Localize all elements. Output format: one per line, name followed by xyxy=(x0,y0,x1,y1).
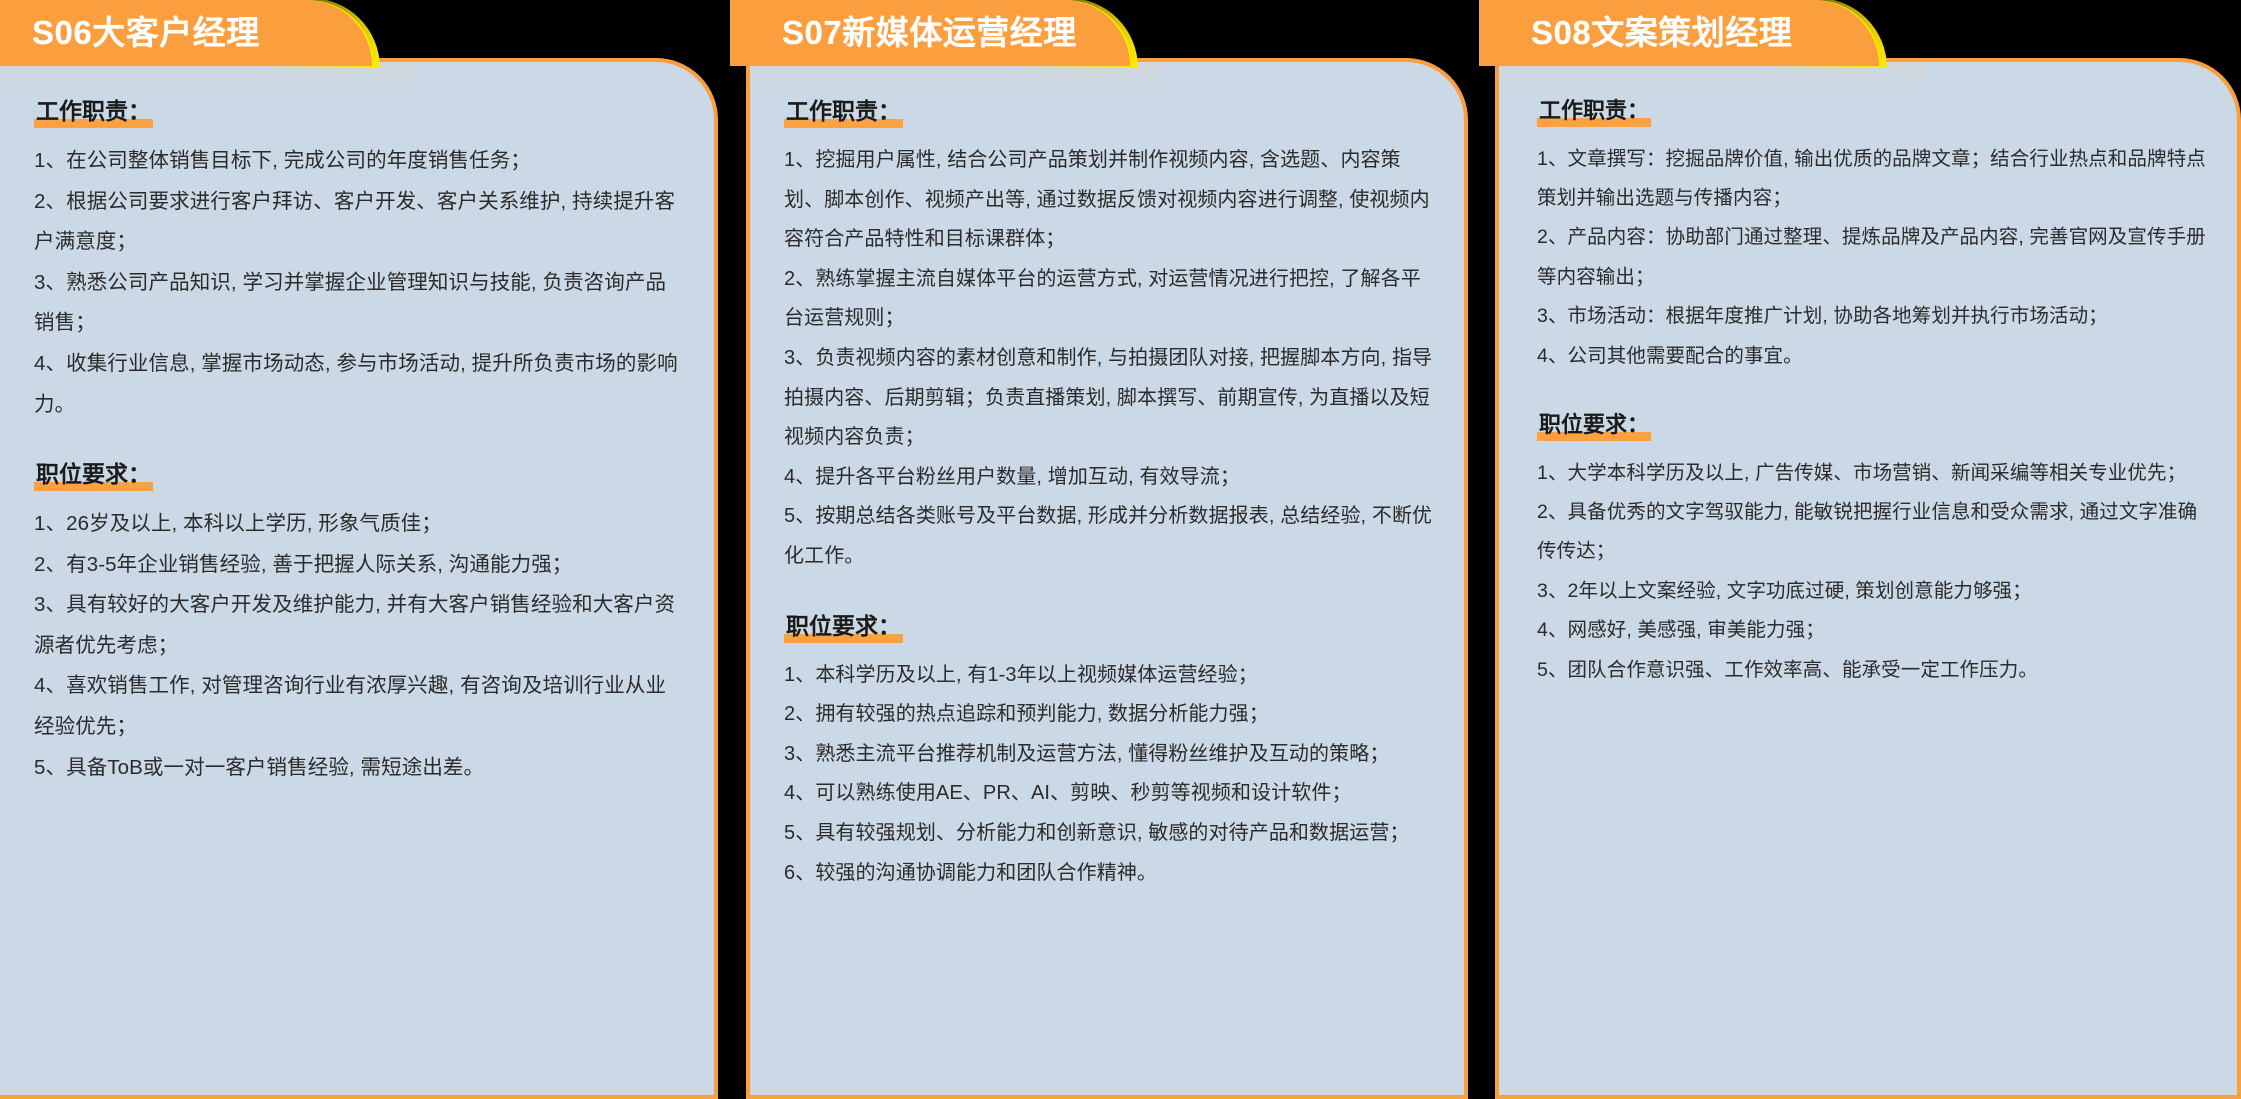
job-title-s06: S06大客户经理 xyxy=(0,0,260,66)
section-responsibilities-s06: 工作职责： 1、在公司整体销售目标下, 完成公司的年度销售任务； 2、根据公司要… xyxy=(28,96,686,425)
section-responsibilities-s07: 工作职责： 1、挖掘用户属性, 结合公司产品策划并制作视频内容, 含选题、内容策… xyxy=(778,96,1436,577)
job-card-body-s07: 工作职责： 1、挖掘用户属性, 结合公司产品策划并制作视频内容, 含选题、内容策… xyxy=(746,58,1468,1099)
job-card-content-s08: 工作职责： 1、文章撰写：挖掘品牌价值, 输出优质的品牌文章；结合行业热点和品牌… xyxy=(1499,62,2237,718)
list-item: 3、熟悉主流平台推荐机制及运营方法, 懂得粉丝维护及互动的策略； xyxy=(784,735,1436,775)
list-item: 4、喜欢销售工作, 对管理咨询行业有浓厚兴趣, 有咨询及培训行业从业经验优先； xyxy=(34,666,686,747)
job-card-body-s06: 工作职责： 1、在公司整体销售目标下, 完成公司的年度销售任务； 2、根据公司要… xyxy=(0,58,718,1099)
list-item: 1、本科学历及以上, 有1-3年以上视频媒体运营经验； xyxy=(784,656,1436,696)
job-title-banner-s06: S06大客户经理 xyxy=(0,0,260,66)
list-item: 4、网感好, 美感强, 审美能力强； xyxy=(1537,611,2213,650)
list-item: 4、提升各平台粉丝用户数量, 增加互动, 有效导流； xyxy=(784,458,1436,498)
list-item: 4、可以熟练使用AE、PR、AI、剪映、秒剪等视频和设计软件； xyxy=(784,774,1436,814)
list-item: 2、有3-5年企业销售经验, 善于把握人际关系, 沟通能力强； xyxy=(34,545,686,586)
job-title-s07: S07新媒体运营经理 xyxy=(750,0,1077,66)
section-heading-responsibilities-s08: 工作职责： xyxy=(1537,96,1653,128)
job-title-banner-s07: S07新媒体运营经理 xyxy=(750,0,1077,66)
section-requirements-s08: 职位要求： 1、大学本科学历及以上, 广告传媒、市场营销、新闻采编等相关专业优先… xyxy=(1531,410,2213,690)
list-item: 3、市场活动：根据年度推广计划, 协助各地筹划并执行市场活动； xyxy=(1537,297,2213,336)
list-item: 5、按期总结各类账号及平台数据, 形成并分析数据报表, 总结经验, 不断优化工作… xyxy=(784,497,1436,576)
section-heading-responsibilities-s07: 工作职责： xyxy=(784,96,905,129)
list-item: 3、熟悉公司产品知识, 学习并掌握企业管理知识与技能, 负责咨询产品销售； xyxy=(34,263,686,344)
section-responsibilities-s08: 工作职责： 1、文章撰写：挖掘品牌价值, 输出优质的品牌文章；结合行业热点和品牌… xyxy=(1531,96,2213,376)
list-item: 4、收集行业信息, 掌握市场动态, 参与市场活动, 提升所负责市场的影响力。 xyxy=(34,344,686,425)
list-item: 3、2年以上文案经验, 文字功底过硬, 策划创意能力够强； xyxy=(1537,572,2213,611)
job-card-content-s06: 工作职责： 1、在公司整体销售目标下, 完成公司的年度销售任务； 2、根据公司要… xyxy=(0,62,714,816)
job-title-s08: S08文案策划经理 xyxy=(1499,0,1792,66)
list-item: 5、具备ToB或一对一客户销售经验, 需短途出差。 xyxy=(34,748,686,789)
list-item: 2、根据公司要求进行客户拜访、客户开发、客户关系维护, 持续提升客户满意度； xyxy=(34,182,686,263)
job-title-banner-s08: S08文案策划经理 xyxy=(1499,0,1792,66)
list-item: 2、拥有较强的热点追踪和预判能力, 数据分析能力强； xyxy=(784,695,1436,735)
list-item: 5、团队合作意识强、工作效率高、能承受一定工作压力。 xyxy=(1537,651,2213,690)
section-heading-requirements-s08: 职位要求： xyxy=(1537,410,1653,442)
section-heading-text: 职位要求： xyxy=(36,461,151,487)
list-item: 6、较强的沟通协调能力和团队合作精神。 xyxy=(784,854,1436,894)
list-item: 1、在公司整体销售目标下, 完成公司的年度销售任务； xyxy=(34,141,686,182)
list-item: 1、文章撰写：挖掘品牌价值, 输出优质的品牌文章；结合行业热点和品牌特点策划并输… xyxy=(1537,140,2213,219)
list-item: 2、产品内容：协助部门通过整理、提炼品牌及产品内容, 完善官网及宣传手册等内容输… xyxy=(1537,218,2213,297)
list-item: 3、负责视频内容的素材创意和制作, 与拍摄团队对接, 把握脚本方向, 指导拍摄内… xyxy=(784,339,1436,458)
section-heading-text: 工作职责： xyxy=(786,98,901,124)
list-item: 4、公司其他需要配合的事宜。 xyxy=(1537,337,2213,376)
section-heading-text: 工作职责： xyxy=(36,98,151,124)
section-heading-requirements-s06: 职位要求： xyxy=(34,459,155,492)
job-card-body-s08: 工作职责： 1、文章撰写：挖掘品牌价值, 输出优质的品牌文章；结合行业热点和品牌… xyxy=(1495,58,2241,1099)
job-card-content-s07: 工作职责： 1、挖掘用户属性, 结合公司产品策划并制作视频内容, 含选题、内容策… xyxy=(750,62,1464,921)
section-heading-text: 职位要求： xyxy=(786,613,901,639)
job-card-s07: 工作职责： 1、挖掘用户属性, 结合公司产品策划并制作视频内容, 含选题、内容策… xyxy=(750,0,1468,1099)
job-posting-board: 工作职责： 1、在公司整体销售目标下, 完成公司的年度销售任务； 2、根据公司要… xyxy=(0,0,2241,1099)
list-item: 5、具有较强规划、分析能力和创新意识, 敏感的对待产品和数据运营； xyxy=(784,814,1436,854)
job-card-s08: 工作职责： 1、文章撰写：挖掘品牌价值, 输出优质的品牌文章；结合行业热点和品牌… xyxy=(1499,0,2241,1099)
section-heading-requirements-s07: 职位要求： xyxy=(784,611,905,644)
section-requirements-s06: 职位要求： 1、26岁及以上, 本科以上学历, 形象气质佳； 2、有3-5年企业… xyxy=(28,459,686,788)
section-requirements-s07: 职位要求： 1、本科学历及以上, 有1-3年以上视频媒体运营经验； 2、拥有较强… xyxy=(778,611,1436,894)
section-heading-responsibilities-s06: 工作职责： xyxy=(34,96,155,129)
section-heading-text: 职位要求： xyxy=(1539,412,1649,437)
job-card-s06: 工作职责： 1、在公司整体销售目标下, 完成公司的年度销售任务； 2、根据公司要… xyxy=(0,0,718,1099)
section-heading-text: 工作职责： xyxy=(1539,98,1649,123)
list-item: 1、大学本科学历及以上, 广告传媒、市场营销、新闻采编等相关专业优先； xyxy=(1537,454,2213,493)
list-item: 1、挖掘用户属性, 结合公司产品策划并制作视频内容, 含选题、内容策划、脚本创作… xyxy=(784,141,1436,260)
list-item: 1、26岁及以上, 本科以上学历, 形象气质佳； xyxy=(34,504,686,545)
list-item: 2、具备优秀的文字驾驭能力, 能敏锐把握行业信息和受众需求, 通过文字准确传传达… xyxy=(1537,493,2213,572)
list-item: 3、具有较好的大客户开发及维护能力, 并有大客户销售经验和大客户资源者优先考虑； xyxy=(34,585,686,666)
list-item: 2、熟练掌握主流自媒体平台的运营方式, 对运营情况进行把控, 了解各平台运营规则… xyxy=(784,260,1436,339)
